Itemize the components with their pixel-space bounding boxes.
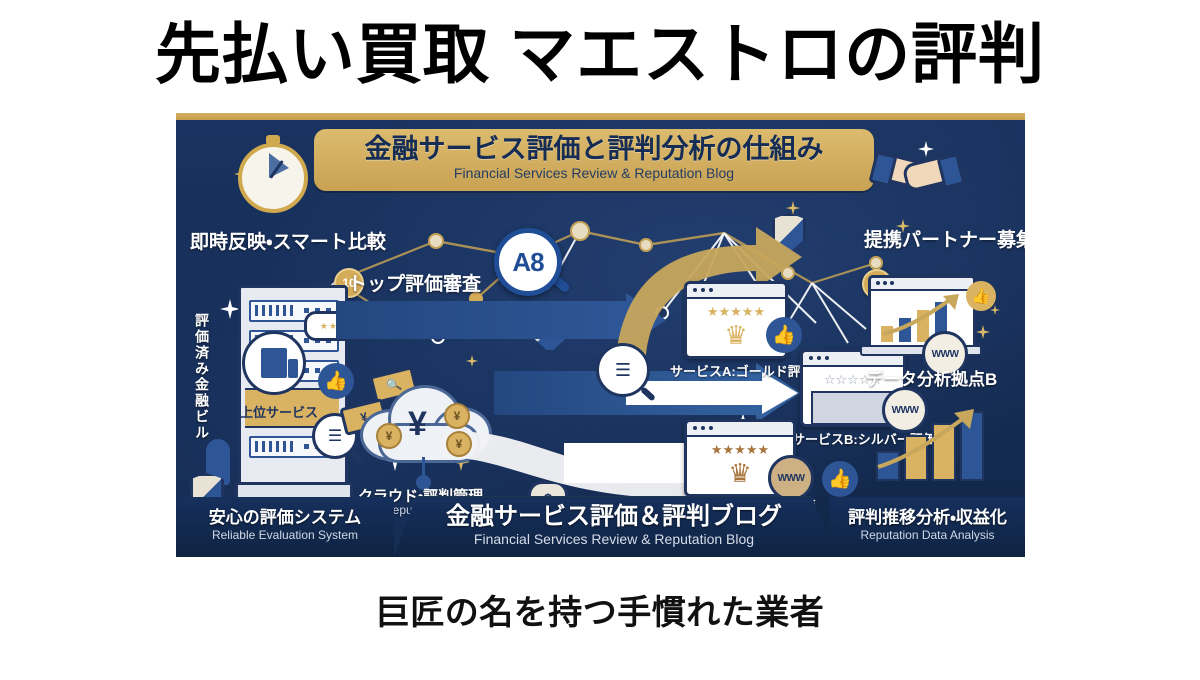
page-root: 先払い買取 マエストロの評判	[0, 0, 1200, 680]
stopwatch-icon	[238, 143, 308, 213]
label-top-review: トップ評価審査	[348, 269, 481, 296]
footer-right-ja: 評判推移分析・収益化	[830, 507, 1025, 528]
footer-center-ja: 金融サービス評価＆評判ブログ	[394, 503, 834, 531]
thumbs-up-icon: 👍	[822, 461, 858, 497]
thumbs-up-icon: 👍	[318, 363, 354, 399]
infographic-banner: 金融サービス評価と評判分析の仕組み Financial Services Rev…	[314, 129, 874, 191]
a8-logo: A8	[494, 228, 562, 296]
magnifier-icon: ☰	[596, 343, 650, 397]
service-b-arrow	[626, 375, 806, 411]
banner-title-ja: 金融サービス評価と評判分析の仕組み	[314, 133, 874, 165]
infographic-top-border	[176, 113, 1025, 120]
handshake-icon	[876, 147, 952, 193]
footer-left-ja: 安心の評価システム	[176, 507, 394, 528]
footer-right: 評判推移分析・収益化 Reputation Data Analysis	[830, 497, 1025, 557]
label-evaluated-building: 評価済み金融ビル	[192, 313, 212, 441]
service-c-stars: ★★★★★	[687, 437, 793, 458]
label-partner-recruit: 提携パートナー募集	[864, 225, 1025, 252]
label-instant-compare: 即時反映・スマート比較	[190, 227, 386, 254]
footer-center: 金融サービス評価＆評判ブログ Financial Services Review…	[394, 496, 834, 557]
footer-right-en: Reputation Data Analysis	[830, 528, 1025, 543]
service-a-label: サービスA:ゴールド評価	[670, 361, 814, 380]
label-data-hub-b: データ分析拠点B	[866, 365, 997, 390]
page-caption: 巨匠の名を持つ手慣れた業者	[0, 592, 1200, 634]
footer-left: 安心の評価システム Reliable Evaluation System	[176, 497, 394, 557]
a8-logo-text: A8	[512, 247, 543, 278]
cloud-yen-symbol: ¥	[408, 405, 427, 444]
infographic-image: 金融サービス評価と評判分析の仕組み Financial Services Rev…	[176, 113, 1025, 557]
building-badge-icon	[242, 331, 306, 395]
footer-center-en: Financial Services Review & Reputation B…	[394, 531, 834, 548]
banner-title-en: Financial Services Review & Reputation B…	[314, 165, 874, 182]
page-title: 先払い買取 マエストロの評判	[0, 16, 1200, 92]
label-top-service: 上位サービス	[240, 402, 318, 421]
footer-left-en: Reliable Evaluation System	[176, 528, 394, 543]
cloud-icon: ¥ ¥ ¥ ¥	[360, 383, 488, 457]
thumbs-up-icon: 👍	[966, 281, 996, 311]
growth-chart-icon	[876, 413, 988, 481]
service-a-stars: ★★★★★	[687, 299, 785, 320]
thumbs-up-icon: 👍	[766, 317, 802, 353]
